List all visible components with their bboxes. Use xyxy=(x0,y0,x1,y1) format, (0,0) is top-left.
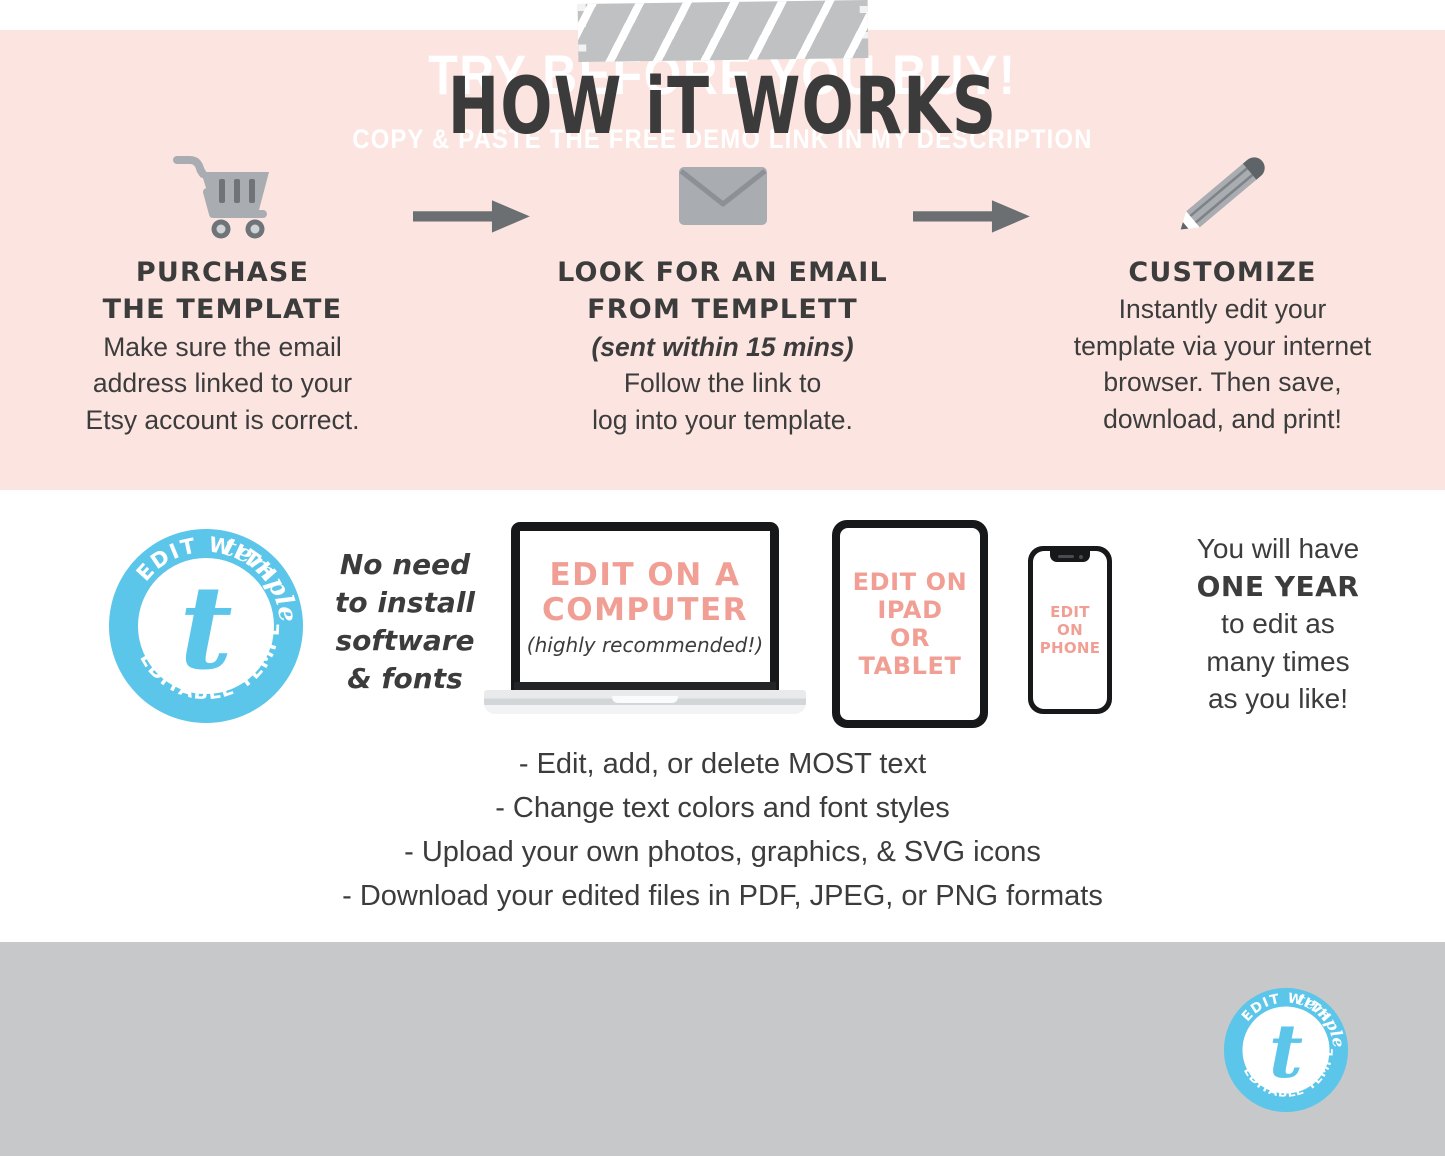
step-customize-title: CUSTOMIZE xyxy=(1033,254,1413,291)
page-title: HOW iT WORKS xyxy=(0,60,1445,152)
templett-badge: EDIT WITH templett EDITABLE TEMPLATE t xyxy=(106,526,306,726)
tablet-screen-text: EDIT ON IPAD OR TABLET xyxy=(853,568,968,680)
laptop-heading-line1: EDIT ON A xyxy=(542,558,748,593)
laptop-heading-line2: COMPUTER xyxy=(542,593,748,628)
no-need-line3: software xyxy=(330,622,480,660)
washi-tape-icon xyxy=(578,0,869,62)
svg-text:t: t xyxy=(179,561,232,696)
devices-row: EDIT WITH templett EDITABLE TEMPLATE t N… xyxy=(0,506,1445,736)
svg-text:t: t xyxy=(1269,1009,1303,1095)
phone-text-line1: EDIT xyxy=(1040,603,1101,621)
right-arrow-icon-1 xyxy=(413,192,533,240)
step-purchase-body: Make sure the email address linked to yo… xyxy=(33,329,413,439)
no-need-line2: to install xyxy=(330,584,480,622)
no-need-text: No need to install software & fonts xyxy=(330,546,480,698)
list-item: - Edit, add, or delete MOST text xyxy=(0,742,1445,786)
step-customize-body-line3: browser. Then save, xyxy=(1033,364,1413,401)
step-purchase-title-line1: PURCHASE xyxy=(33,254,413,291)
step-purchase-body-line2: address linked to your xyxy=(33,365,413,402)
how-it-works-infographic: HOW iT WORKS PURCHASE THE TEMPLATE xyxy=(0,0,1445,1156)
step-email: LOOK FOR AN EMAIL FROM TEMPLETT (sent wi… xyxy=(533,150,913,438)
step-purchase: PURCHASE THE TEMPLATE Make sure the emai… xyxy=(33,150,413,438)
step-customize-body-line1: Instantly edit your xyxy=(1033,291,1413,328)
one-year-line4: many times xyxy=(1128,643,1428,681)
step-email-body-line3: log into your template. xyxy=(533,402,913,439)
step-email-body-line2: Follow the link to xyxy=(533,365,913,402)
envelope-icon xyxy=(533,150,913,242)
step-email-title: LOOK FOR AN EMAIL FROM TEMPLETT xyxy=(533,254,913,329)
pencil-icon xyxy=(1033,150,1413,242)
laptop-lid: EDIT ON A COMPUTER (highly recommended!) xyxy=(511,522,779,692)
templett-badge-footer: EDIT WITH templett EDITABLE TEMPLATE t xyxy=(1222,986,1350,1119)
step-purchase-title-line2: THE TEMPLATE xyxy=(33,291,413,328)
laptop-screen: EDIT ON A COMPUTER (highly recommended!) xyxy=(520,531,770,684)
laptop-screen-sub: (highly recommended!) xyxy=(527,633,763,657)
one-year-highlight: ONE YEAR xyxy=(1197,570,1360,603)
laptop-screen-heading: EDIT ON A COMPUTER xyxy=(542,558,748,627)
phone-notch-icon xyxy=(1050,551,1090,562)
tablet-text-line2: IPAD xyxy=(853,596,968,624)
list-item: - Download your edited files in PDF, JPE… xyxy=(0,874,1445,918)
tablet-screen: EDIT ON IPAD OR TABLET xyxy=(840,528,980,720)
one-year-line1: You will have xyxy=(1128,530,1428,568)
step-customize-body: Instantly edit your template via your in… xyxy=(1033,291,1413,437)
step-email-title-line2: FROM TEMPLETT xyxy=(533,291,913,328)
step-email-body: (sent within 15 mins) Follow the link to… xyxy=(533,329,913,439)
list-item: - Change text colors and font styles xyxy=(0,786,1445,830)
right-arrow-icon-2 xyxy=(913,192,1033,240)
step-customize-title-line1: CUSTOMIZE xyxy=(1033,254,1413,291)
step-customize: CUSTOMIZE Instantly edit your template v… xyxy=(1033,150,1413,438)
phone-screen: EDIT ON PHONE xyxy=(1033,551,1107,709)
phone-screen-text: EDIT ON PHONE xyxy=(1040,603,1101,657)
tablet-text-line3: OR xyxy=(853,624,968,652)
one-year-line5: as you like! xyxy=(1128,680,1428,718)
one-year-line3: to edit as xyxy=(1128,605,1428,643)
step-email-title-line1: LOOK FOR AN EMAIL xyxy=(533,254,913,291)
one-year-text: You will have ONE YEAR to edit as many t… xyxy=(1128,530,1428,718)
no-need-line4: & fonts xyxy=(330,660,480,698)
phone-text-line2: ON xyxy=(1040,621,1101,639)
shopping-cart-icon xyxy=(33,150,413,242)
step-email-body-italic: (sent within 15 mins) xyxy=(533,329,913,366)
tablet-text-line4: TABLET xyxy=(853,652,968,680)
step-purchase-body-line3: Etsy account is correct. xyxy=(33,402,413,439)
list-item: - Upload your own photos, graphics, & SV… xyxy=(0,830,1445,874)
phone-mockup: EDIT ON PHONE xyxy=(1028,546,1112,714)
steps-row: PURCHASE THE TEMPLATE Make sure the emai… xyxy=(0,150,1445,470)
step-purchase-body-line1: Make sure the email xyxy=(33,329,413,366)
washi-edge-left xyxy=(578,4,587,62)
feature-bullet-list: - Edit, add, or delete MOST text - Chang… xyxy=(0,742,1445,918)
step-customize-body-line2: template via your internet xyxy=(1033,328,1413,365)
step-purchase-title: PURCHASE THE TEMPLATE xyxy=(33,254,413,329)
middle-section: EDIT WITH templett EDITABLE TEMPLATE t N… xyxy=(0,490,1445,942)
laptop-mockup: EDIT ON A COMPUTER (highly recommended!) xyxy=(484,522,806,737)
tablet-mockup: EDIT ON IPAD OR TABLET xyxy=(832,520,988,728)
phone-text-line3: PHONE xyxy=(1040,639,1101,657)
washi-edge-right xyxy=(860,0,869,58)
laptop-base xyxy=(484,690,806,714)
tablet-text-line1: EDIT ON xyxy=(853,568,968,596)
step-customize-body-line4: download, and print! xyxy=(1033,401,1413,438)
no-need-line1: No need xyxy=(330,546,480,584)
